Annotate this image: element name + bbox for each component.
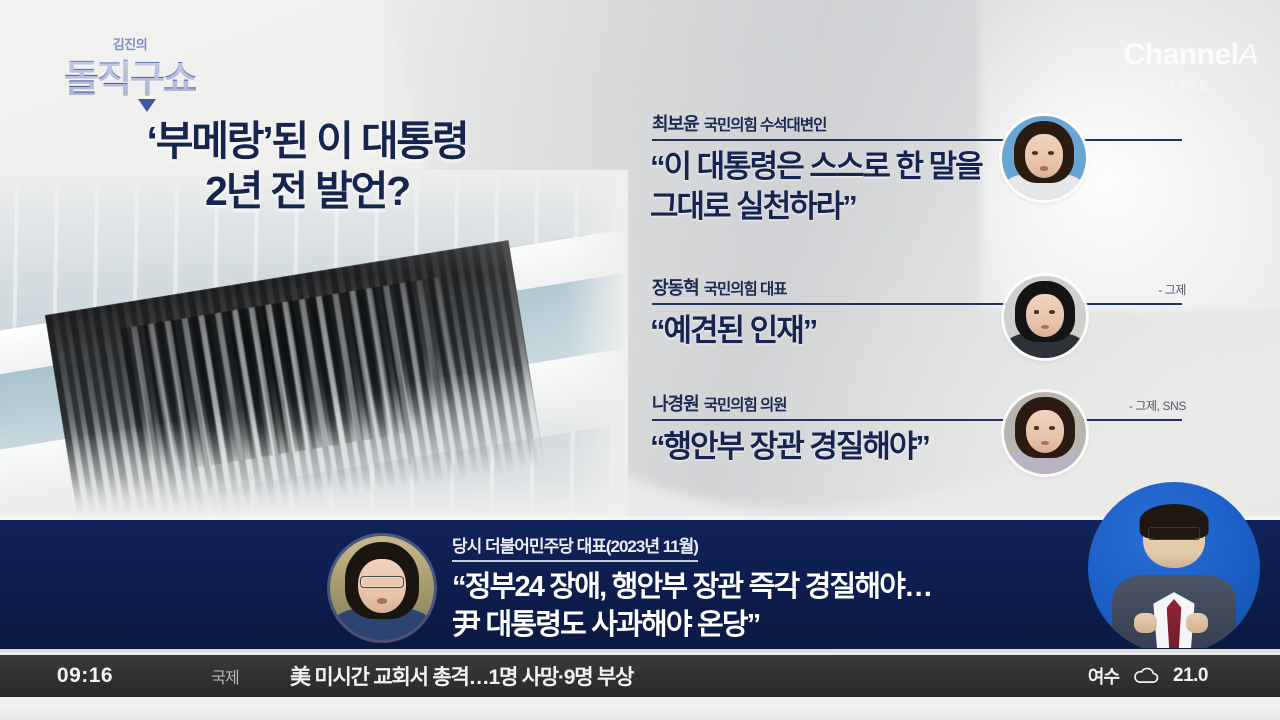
portrait-face [1025, 134, 1064, 178]
portrait-eye-left [1032, 151, 1038, 154]
quote-text-line-1: “행안부 장관 경질해야” [650, 429, 929, 464]
ticker-weather: 여수 21.0 [1088, 663, 1280, 689]
channel-watermark: ChannelA LIVE [1124, 40, 1258, 93]
photo-edge-fade [0, 170, 628, 518]
cloud-icon [1131, 666, 1161, 686]
portrait-jang-donghyuk [1004, 276, 1086, 358]
portrait-choi-boyun [1002, 116, 1086, 200]
quote-speaker: 장동혁국민의힘 대표 [652, 274, 787, 300]
banner-attribution: 당시 더불어민주당 대표(2023년 11월) [452, 532, 698, 562]
news-ticker: 09:16 국제 美 미시간 교회서 총격…1명 사망·9명 부상 여수 21.… [0, 655, 1280, 697]
anchor-host [1080, 456, 1270, 648]
headline-line-2: 2년 전 발언? [72, 166, 542, 216]
quote-speaker-title: 국민의힘 수석대변인 [704, 117, 827, 134]
channel-name: ChannelA [1124, 40, 1258, 70]
headline-line-1: ‘부메랑’된 이 대통령 [147, 118, 468, 164]
quote-speaker-name: 최보윤 [652, 114, 699, 134]
portrait-face [1026, 294, 1064, 337]
portrait-eye-left [1034, 310, 1040, 313]
quote-header: 나경원국민의힘 의원 - 그제, SNS [628, 390, 1268, 419]
weather-temperature: 21.0 [1173, 665, 1208, 687]
quote-speaker-name: 나경원 [652, 394, 699, 414]
ticker-bottom-strip [0, 697, 1280, 720]
glasses-icon [360, 576, 404, 588]
program-logo-bubble-tail [138, 99, 156, 112]
portrait-face [1026, 410, 1064, 453]
quote-item: 최보윤국민의힘 수석대변인 “이 대통령은 스스로 한 말을 그대로 실천하라” [628, 110, 1268, 270]
quote-speaker-title: 국민의힘 의원 [704, 397, 787, 414]
anchor-hand-left [1134, 613, 1156, 634]
quote-text-line-1: “이 대통령은 스스로 한 말을 [650, 149, 982, 184]
quote-text: “이 대통령은 스스로 한 말을 그대로 실천하라” [628, 141, 1268, 226]
portrait-na-kyungwon [1004, 392, 1086, 474]
quote-source: - 그제 [1158, 281, 1186, 298]
quote-item: 장동혁국민의힘 대표 - 그제 “예견된 인재” [628, 274, 1268, 386]
quote-header: 장동혁국민의힘 대표 - 그제 [628, 274, 1268, 303]
ticker-headline: 美 미시간 교회서 총격…1명 사망·9명 부상 [280, 661, 1088, 691]
ticker-clock: 09:16 [0, 664, 170, 688]
news-photo-burned-building [0, 170, 628, 518]
portrait-eye-right [1049, 426, 1055, 429]
face-illustration [1004, 392, 1086, 474]
portrait-eye-right [1049, 310, 1055, 313]
channel-a-mark: A [1238, 38, 1258, 71]
ticker-category: 국제 [170, 664, 280, 688]
banner-quote-line-2: 尹 대통령도 사과해야 온당” [452, 607, 1072, 645]
quote-list: 최보윤국민의힘 수석대변인 “이 대통령은 스스로 한 말을 그대로 실천하라” [628, 110, 1268, 504]
banner-quote-line-1: “정부24 장애, 행안부 장관 즉각 경질해야… [452, 571, 931, 603]
portrait-lee-jaemyung [330, 536, 434, 640]
quote-header: 최보윤국민의힘 수석대변인 [628, 110, 1268, 139]
main-headline: ‘부메랑’된 이 대통령 2년 전 발언? [72, 116, 542, 216]
banner-text-block: 당시 더불어민주당 대표(2023년 11월) “정부24 장애, 행안부 장관… [452, 532, 1072, 644]
portrait-eye-right [1048, 151, 1054, 154]
quote-speaker-name: 장동혁 [652, 278, 699, 298]
portrait-mouth [377, 598, 387, 603]
portrait-mouth [1040, 166, 1048, 170]
quote-speaker: 최보윤국민의힘 수석대변인 [652, 110, 826, 136]
quote-text-line-1: “예견된 인재” [650, 313, 816, 348]
portrait-eye-left [1034, 426, 1040, 429]
anchor-tie [1167, 599, 1182, 648]
channel-name-word: Channel [1124, 38, 1239, 71]
quote-speaker: 나경원국민의힘 의원 [652, 390, 787, 416]
banner-quote: “정부24 장애, 행안부 장관 즉각 경질해야… 尹 대통령도 사과해야 온당… [452, 569, 1072, 644]
program-logo: 김진의 돌직구쇼 [50, 32, 210, 110]
face-illustration [330, 536, 434, 640]
quote-text-line-2: 그대로 실천하라” [650, 187, 1172, 227]
anchor-disc [1088, 482, 1260, 648]
quote-text: “예견된 인재” [628, 305, 1268, 351]
quote-speaker-title: 국민의힘 대표 [704, 281, 787, 298]
glasses-icon [1148, 527, 1200, 541]
program-logo-title: 돌직구쇼 [64, 48, 196, 103]
live-indicator: LIVE [1124, 77, 1258, 93]
face-illustration [1002, 116, 1086, 200]
face-illustration [1004, 276, 1086, 358]
quote-source: - 그제, SNS [1129, 397, 1186, 414]
weather-city: 여수 [1088, 663, 1119, 689]
anchor-hand-right [1186, 613, 1208, 634]
broadcast-screen: 김진의 돌직구쇼 ChannelA LIVE ‘부메랑’된 이 대통령 2년 전… [0, 0, 1280, 720]
